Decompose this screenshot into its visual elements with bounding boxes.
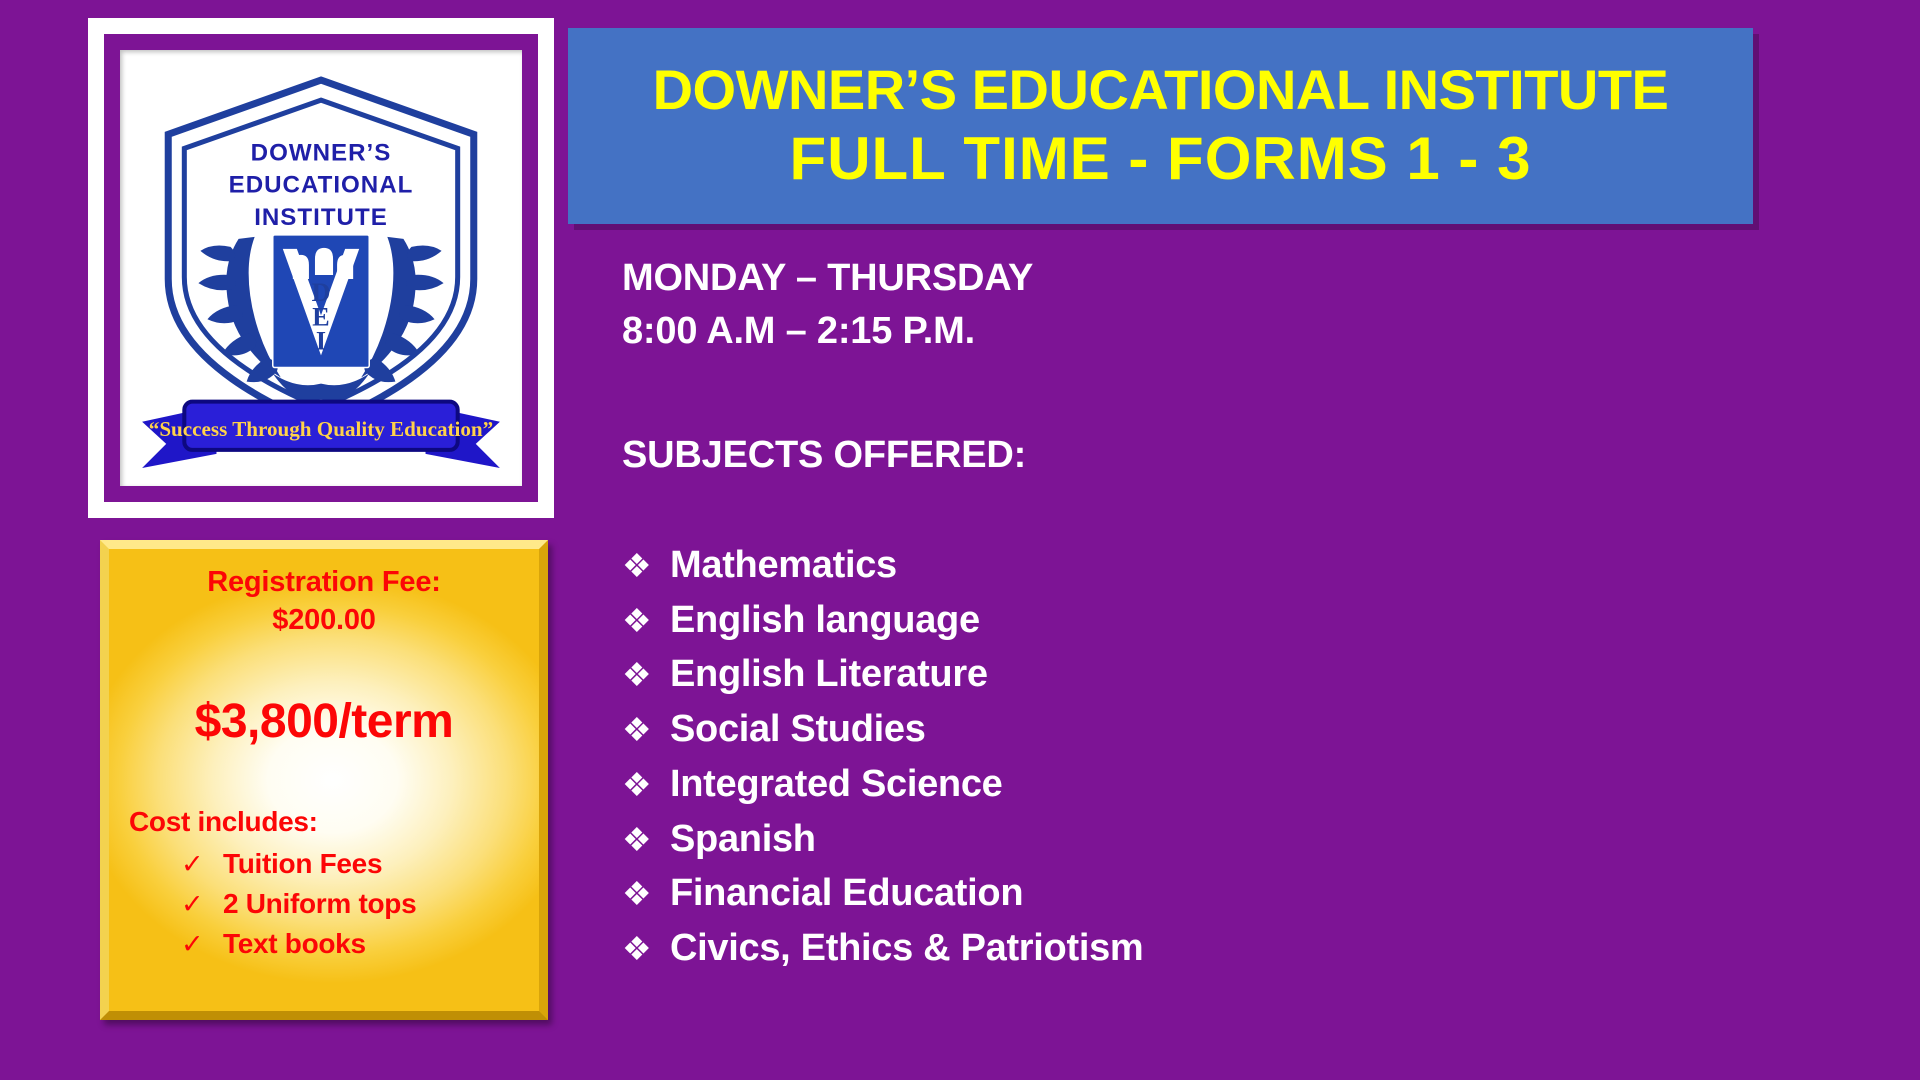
diamond-bullet-icon: ❖ — [622, 823, 670, 856]
diamond-bullet-icon: ❖ — [622, 768, 670, 801]
subject-label: Mathematics — [670, 538, 897, 593]
list-item: ❖ English language — [622, 593, 1143, 648]
title-banner: DOWNER’S EDUCATIONAL INSTITUTE FULL TIME… — [568, 28, 1753, 224]
page-subtitle: FULL TIME - FORMS 1 - 3 — [790, 127, 1532, 192]
diamond-bullet-icon: ❖ — [622, 713, 670, 746]
cost-includes-item-label: 2 Uniform tops — [223, 884, 416, 924]
list-item: ✓ Tuition Fees — [181, 844, 527, 884]
diamond-bullet-icon: ❖ — [622, 549, 670, 582]
check-icon: ✓ — [181, 845, 223, 883]
left-column: DOWNER’S EDUCATIONAL INSTITUTE — [0, 0, 560, 1080]
subject-label: Financial Education — [670, 866, 1023, 921]
logo-frame-border: DOWNER’S EDUCATIONAL INSTITUTE — [104, 34, 538, 502]
term-fee-amount: $3,800/term — [121, 696, 527, 749]
list-item: ❖ Mathematics — [622, 538, 1143, 593]
crest-line-1: DOWNER’S — [251, 139, 392, 166]
subject-label: Social Studies — [670, 702, 926, 757]
monogram-letter-i: I — [316, 326, 326, 355]
logo-card: DOWNER’S EDUCATIONAL INSTITUTE — [88, 18, 554, 518]
list-item: ✓ Text books — [181, 924, 527, 964]
logo-field: DOWNER’S EDUCATIONAL INSTITUTE — [120, 50, 522, 486]
cost-includes-list: ✓ Tuition Fees ✓ 2 Uniform tops ✓ Text b… — [121, 844, 527, 963]
subjects-heading: SUBJECTS OFFERED: — [622, 434, 1026, 477]
list-item: ❖ Social Studies — [622, 702, 1143, 757]
check-icon: ✓ — [181, 885, 223, 923]
diamond-bullet-icon: ❖ — [622, 658, 670, 691]
subject-label: English Literature — [670, 647, 988, 702]
list-item: ❖ Civics, Ethics & Patriotism — [622, 921, 1143, 976]
crest-line-2: EDUCATIONAL — [229, 172, 414, 199]
diamond-bullet-icon: ❖ — [622, 932, 670, 965]
registration-fee-label: Registration Fee: — [121, 563, 527, 601]
laurel-base-icon — [273, 374, 369, 401]
list-item: ❖ Integrated Science — [622, 757, 1143, 812]
cost-includes-item-label: Text books — [223, 924, 366, 964]
subject-label: Integrated Science — [670, 757, 1003, 812]
list-item: ✓ 2 Uniform tops — [181, 884, 527, 924]
list-item: ❖ Financial Education — [622, 866, 1143, 921]
cost-includes-item-label: Tuition Fees — [223, 844, 382, 884]
schedule-days: MONDAY – THURSDAY — [622, 252, 1033, 305]
list-item: ❖ Spanish — [622, 812, 1143, 867]
crest-line-3: INSTITUTE — [254, 204, 388, 231]
subject-label: Civics, Ethics & Patriotism — [670, 921, 1143, 976]
page-title: DOWNER’S EDUCATIONAL INSTITUTE — [653, 60, 1669, 120]
list-item: ❖ English Literature — [622, 647, 1143, 702]
check-icon: ✓ — [181, 925, 223, 963]
registration-fee-amount: $200.00 — [121, 601, 527, 639]
subject-label: Spanish — [670, 812, 816, 867]
diamond-bullet-icon: ❖ — [622, 877, 670, 910]
subject-label: English language — [670, 593, 980, 648]
diamond-bullet-icon: ❖ — [622, 604, 670, 637]
right-column: DOWNER’S EDUCATIONAL INSTITUTE FULL TIME… — [560, 0, 1920, 1080]
schedule-hours: 8:00 A.M – 2:15 P.M. — [622, 305, 1033, 358]
cost-includes-label: Cost includes: — [129, 806, 527, 838]
subjects-list: ❖ Mathematics ❖ English language ❖ Engli… — [622, 538, 1143, 976]
schedule-block: MONDAY – THURSDAY 8:00 A.M – 2:15 P.M. — [622, 252, 1033, 358]
school-crest-icon: DOWNER’S EDUCATIONAL INSTITUTE — [120, 50, 522, 486]
ribbon-motto-text: “Success Through Quality Education” — [149, 417, 493, 441]
fees-panel: Registration Fee: $200.00 $3,800/term Co… — [100, 540, 548, 1020]
